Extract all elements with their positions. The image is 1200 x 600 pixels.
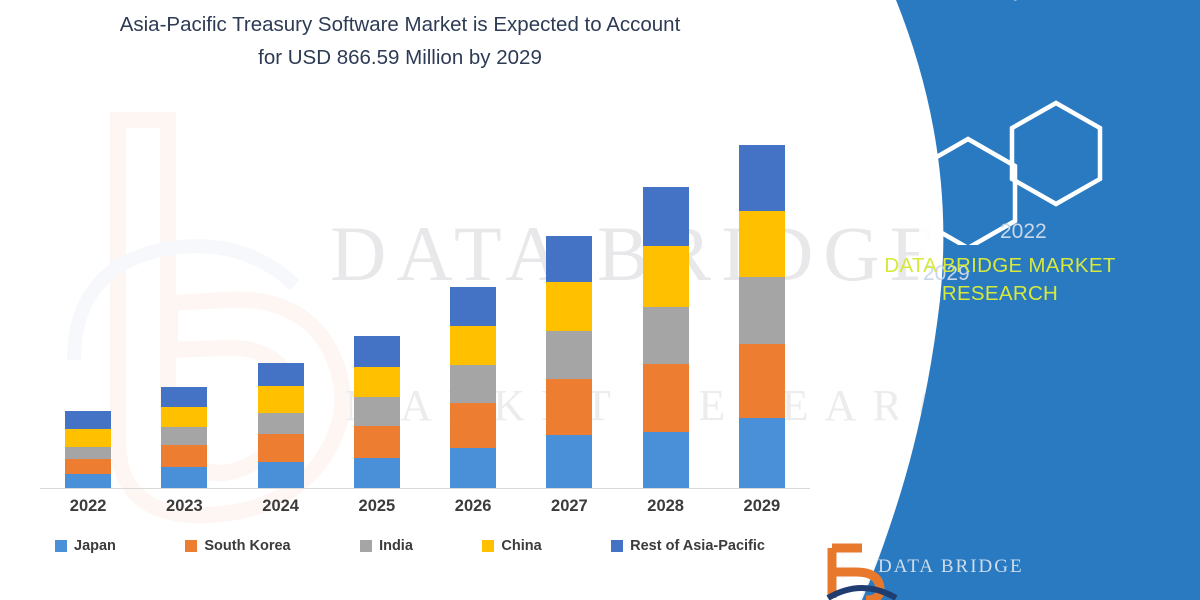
bar-segment-rest-of-asia-pacific[interactable]: [450, 287, 496, 327]
bar-segment-japan[interactable]: [161, 467, 207, 488]
legend-item-south-korea[interactable]: South Korea: [185, 538, 290, 554]
legend-label: South Korea: [204, 538, 290, 554]
x-axis-label-2025: 2025: [329, 497, 425, 516]
x-axis-labels: 20222023202420252026202720282029: [40, 497, 810, 516]
x-axis-label-2026: 2026: [425, 497, 521, 516]
stacked-bar-chart: [40, 100, 810, 489]
hexagon-2022-icon: [1012, 103, 1100, 204]
bar-segment-rest-of-asia-pacific[interactable]: [546, 236, 592, 282]
bar-segment-rest-of-asia-pacific[interactable]: [65, 411, 111, 430]
bar-segment-india[interactable]: [643, 307, 689, 364]
bar-group: [40, 100, 810, 488]
legend-swatch-icon: [360, 540, 372, 552]
bar-segment-india[interactable]: [65, 447, 111, 459]
stacked-bar-2024[interactable]: [258, 363, 304, 488]
brand-name-line-2: RESEARCH: [800, 280, 1200, 308]
legend-item-rest-of-asia-pacific[interactable]: Rest of Asia-Pacific: [611, 538, 765, 554]
bar-segment-japan[interactable]: [739, 418, 785, 488]
bar-segment-japan[interactable]: [258, 462, 304, 488]
legend-swatch-icon: [611, 540, 623, 552]
stacked-bar-2023[interactable]: [161, 387, 207, 488]
x-axis-line: [40, 488, 810, 489]
stacked-bar-2028[interactable]: [643, 187, 689, 488]
chart-title-line-2: for USD 866.59 Million by 2029: [40, 41, 760, 74]
hexagon-2029-label: 2029: [923, 262, 970, 286]
bar-segment-japan[interactable]: [354, 458, 400, 488]
legend-swatch-icon: [482, 540, 494, 552]
bar-segment-china[interactable]: [161, 407, 207, 427]
bar-segment-south-korea[interactable]: [258, 434, 304, 462]
bar-segment-china[interactable]: [450, 326, 496, 365]
legend-label: China: [501, 538, 541, 554]
bar-slot: [136, 100, 232, 488]
bar-segment-japan[interactable]: [643, 432, 689, 488]
bar-segment-india[interactable]: [161, 427, 207, 446]
bar-segment-south-korea[interactable]: [546, 379, 592, 436]
bar-segment-china[interactable]: [739, 211, 785, 276]
bar-slot: [521, 100, 617, 488]
bar-segment-china[interactable]: [258, 386, 304, 413]
chart-title: Asia-Pacific Treasury Software Market is…: [40, 8, 760, 74]
x-axis-label-2023: 2023: [136, 497, 232, 516]
x-axis-label-2028: 2028: [618, 497, 714, 516]
x-axis-label-2024: 2024: [233, 497, 329, 516]
stacked-bar-2022[interactable]: [65, 411, 111, 488]
bar-segment-india[interactable]: [739, 277, 785, 344]
bar-segment-south-korea[interactable]: [354, 426, 400, 458]
panel-heading: Market, By 2029: [800, 0, 1200, 6]
chart-legend: JapanSouth KoreaIndiaChinaRest of Asia-P…: [55, 538, 795, 554]
bar-segment-china[interactable]: [546, 282, 592, 332]
brand-name-line-1: DATA BRIDGE MARKET: [800, 252, 1200, 280]
legend-item-india[interactable]: India: [360, 538, 413, 554]
brand-name: DATA BRIDGE MARKET RESEARCH: [800, 252, 1200, 308]
stacked-bar-2026[interactable]: [450, 287, 496, 488]
stacked-bar-2029[interactable]: [739, 145, 785, 488]
bar-segment-south-korea[interactable]: [450, 403, 496, 449]
legend-item-china[interactable]: China: [482, 538, 541, 554]
logo-wordmark: DATA BRIDGE: [878, 556, 1024, 578]
legend-item-japan[interactable]: Japan: [55, 538, 116, 554]
stacked-bar-2027[interactable]: [546, 236, 592, 488]
bar-segment-china[interactable]: [643, 246, 689, 308]
bar-segment-india[interactable]: [450, 365, 496, 403]
bar-segment-china[interactable]: [65, 429, 111, 447]
bar-segment-india[interactable]: [354, 397, 400, 427]
bar-segment-south-korea[interactable]: [161, 445, 207, 467]
legend-label: India: [379, 538, 413, 554]
bar-segment-india[interactable]: [258, 413, 304, 435]
bar-segment-japan[interactable]: [450, 448, 496, 488]
bar-segment-rest-of-asia-pacific[interactable]: [739, 145, 785, 211]
bar-slot: [233, 100, 329, 488]
bar-slot: [618, 100, 714, 488]
bar-segment-rest-of-asia-pacific[interactable]: [258, 363, 304, 386]
hexagon-badges: 2022 2029: [848, 95, 1148, 235]
bar-segment-south-korea[interactable]: [739, 344, 785, 417]
legend-swatch-icon: [55, 540, 67, 552]
bar-segment-japan[interactable]: [65, 474, 111, 488]
infographic-canvas: DATA BRIDGE MARKET RESEARCH Asia-Pacific…: [0, 0, 1200, 600]
bar-segment-china[interactable]: [354, 367, 400, 397]
legend-swatch-icon: [185, 540, 197, 552]
x-axis-label-2027: 2027: [521, 497, 617, 516]
hexagon-outline-icons: [848, 95, 1148, 245]
bar-segment-south-korea[interactable]: [65, 459, 111, 474]
bar-segment-rest-of-asia-pacific[interactable]: [643, 187, 689, 246]
stacked-bar-2025[interactable]: [354, 336, 400, 488]
legend-label: Rest of Asia-Pacific: [630, 538, 765, 554]
x-axis-label-2029: 2029: [714, 497, 810, 516]
bar-slot: [425, 100, 521, 488]
panel-background-shape: [800, 0, 1200, 600]
chart-title-line-1: Asia-Pacific Treasury Software Market is…: [40, 8, 760, 41]
bar-segment-south-korea[interactable]: [643, 364, 689, 432]
x-axis-label-2022: 2022: [40, 497, 136, 516]
bar-segment-rest-of-asia-pacific[interactable]: [161, 387, 207, 407]
bar-segment-india[interactable]: [546, 331, 592, 379]
bar-slot: [714, 100, 810, 488]
bar-slot: [40, 100, 136, 488]
right-brand-panel: Market, By 2029 2022 2029 DATA BRIDGE MA…: [800, 0, 1200, 600]
hexagon-2022-label: 2022: [1000, 220, 1047, 244]
data-bridge-logo-icon: [822, 542, 1062, 600]
bar-slot: [329, 100, 425, 488]
legend-label: Japan: [74, 538, 116, 554]
bar-segment-japan[interactable]: [546, 435, 592, 488]
panel-heading-text: Market, By 2029: [800, 0, 1200, 6]
bar-segment-rest-of-asia-pacific[interactable]: [354, 336, 400, 367]
hexagon-2029-icon: [921, 139, 1015, 245]
